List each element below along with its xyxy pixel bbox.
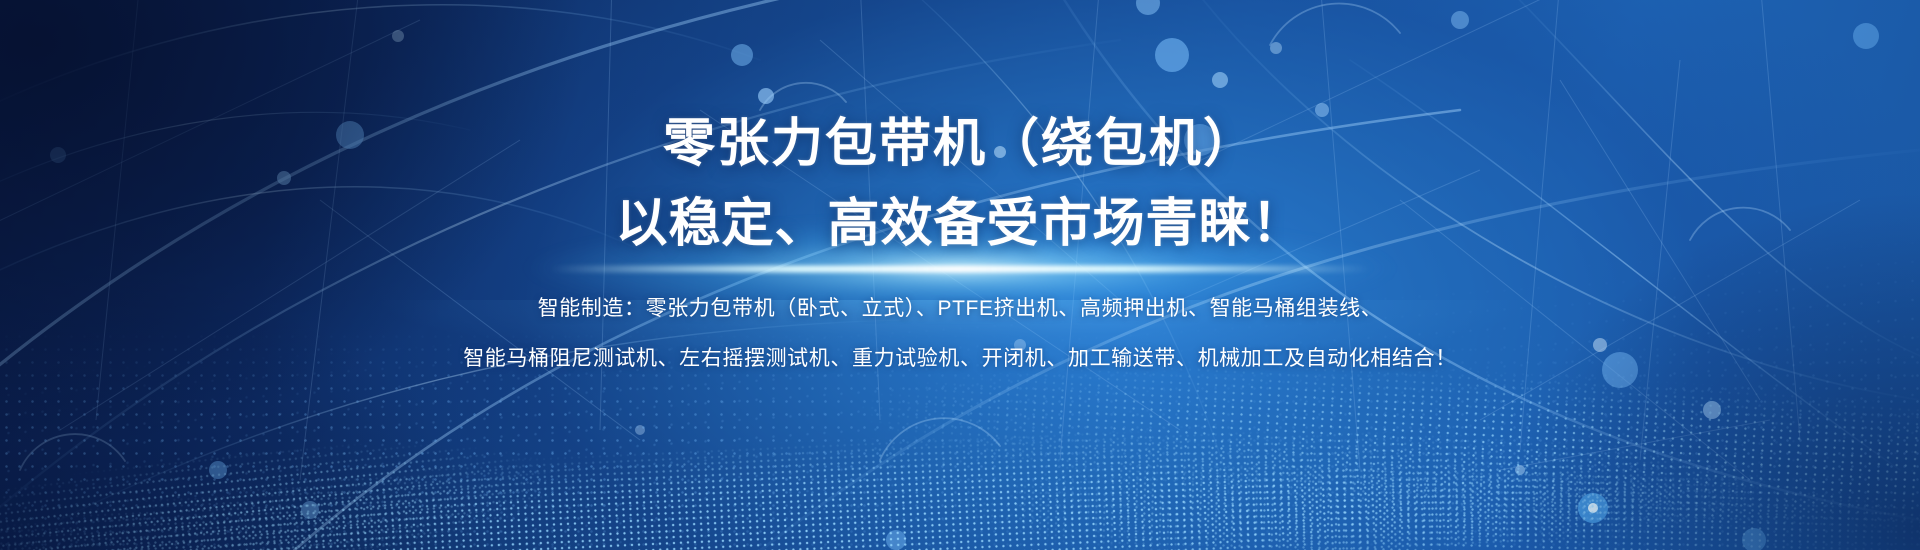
hero-banner: 零张力包带机（绕包机） 以稳定、高效备受市场青睐！ 智能制造：零张力包带机（卧式…: [0, 0, 1920, 550]
headline-line-1: 零张力包带机（绕包机）: [663, 104, 1257, 184]
subtitle-block: 智能制造：零张力包带机（卧式、立式）、PTFE挤出机、高频押出机、智能马桶组装线…: [463, 284, 1457, 384]
banner-content: 零张力包带机（绕包机） 以稳定、高效备受市场青睐！ 智能制造：零张力包带机（卧式…: [0, 0, 1920, 550]
subtitle-line-1: 智能制造：零张力包带机（卧式、立式）、PTFE挤出机、高频押出机、智能马桶组装线…: [463, 284, 1457, 334]
headline-line-2: 以稳定、高效备受市场青睐！: [615, 184, 1304, 264]
subtitle-line-2: 智能马桶阻尼测试机、左右摇摆测试机、重力试验机、开闭机、加工输送带、机械加工及自…: [463, 334, 1457, 384]
